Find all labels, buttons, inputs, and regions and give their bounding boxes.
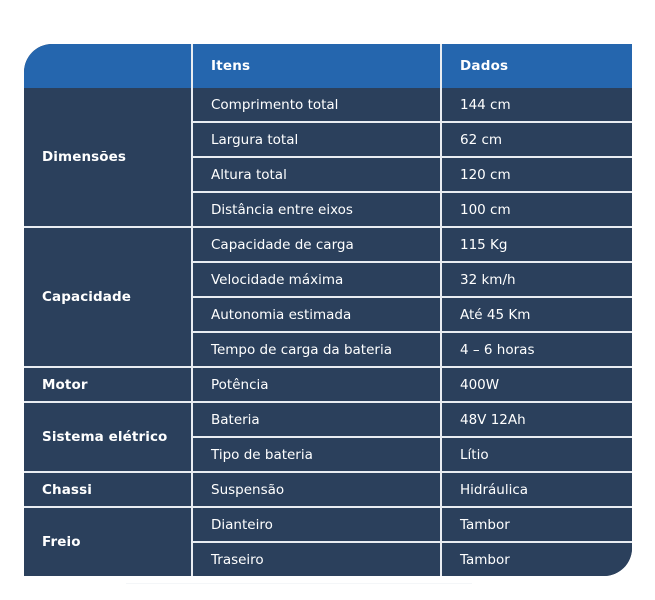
column-header-items: Itens	[192, 44, 441, 88]
item-cell: Traseiro	[192, 542, 441, 576]
specifications-table: Itens Dados DimensõesComprimento total14…	[24, 44, 632, 576]
category-cell: Sistema elétrico	[24, 402, 192, 472]
item-cell: Bateria	[192, 402, 441, 437]
data-cell: 100 cm	[441, 192, 632, 227]
category-cell: Freio	[24, 507, 192, 576]
data-cell: 144 cm	[441, 88, 632, 122]
bottom-divider	[126, 583, 472, 584]
data-cell: Lítio	[441, 437, 632, 472]
item-cell: Largura total	[192, 122, 441, 157]
item-cell: Distância entre eixos	[192, 192, 441, 227]
data-cell: 32 km/h	[441, 262, 632, 297]
data-cell: 4 – 6 horas	[441, 332, 632, 367]
specifications-table-container: Itens Dados DimensõesComprimento total14…	[24, 44, 632, 576]
data-cell: Até 45 Km	[441, 297, 632, 332]
column-header-category	[24, 44, 192, 88]
item-cell: Suspensão	[192, 472, 441, 507]
table-row: DimensõesComprimento total144 cm	[24, 88, 632, 122]
table-row: MotorPotência400W	[24, 367, 632, 402]
item-cell: Autonomia estimada	[192, 297, 441, 332]
data-cell: 48V 12Ah	[441, 402, 632, 437]
category-cell: Dimensões	[24, 88, 192, 227]
table-header-row: Itens Dados	[24, 44, 632, 88]
table-row: Sistema elétricoBateria48V 12Ah	[24, 402, 632, 437]
data-cell: 120 cm	[441, 157, 632, 192]
table-row: ChassiSuspensãoHidráulica	[24, 472, 632, 507]
data-cell: 400W	[441, 367, 632, 402]
data-cell: Tambor	[441, 542, 632, 576]
item-cell: Dianteiro	[192, 507, 441, 542]
item-cell: Capacidade de carga	[192, 227, 441, 262]
item-cell: Velocidade máxima	[192, 262, 441, 297]
item-cell: Potência	[192, 367, 441, 402]
table-row: CapacidadeCapacidade de carga115 Kg	[24, 227, 632, 262]
data-cell: Tambor	[441, 507, 632, 542]
category-cell: Capacidade	[24, 227, 192, 367]
table-row: FreioDianteiroTambor	[24, 507, 632, 542]
item-cell: Tipo de bateria	[192, 437, 441, 472]
item-cell: Altura total	[192, 157, 441, 192]
table-header: Itens Dados	[24, 44, 632, 88]
item-cell: Tempo de carga da bateria	[192, 332, 441, 367]
category-cell: Motor	[24, 367, 192, 402]
data-cell: 62 cm	[441, 122, 632, 157]
data-cell: 115 Kg	[441, 227, 632, 262]
data-cell: Hidráulica	[441, 472, 632, 507]
table-body: DimensõesComprimento total144 cmLargura …	[24, 88, 632, 576]
page-root: Itens Dados DimensõesComprimento total14…	[0, 0, 655, 600]
column-header-data: Dados	[441, 44, 632, 88]
item-cell: Comprimento total	[192, 88, 441, 122]
category-cell: Chassi	[24, 472, 192, 507]
